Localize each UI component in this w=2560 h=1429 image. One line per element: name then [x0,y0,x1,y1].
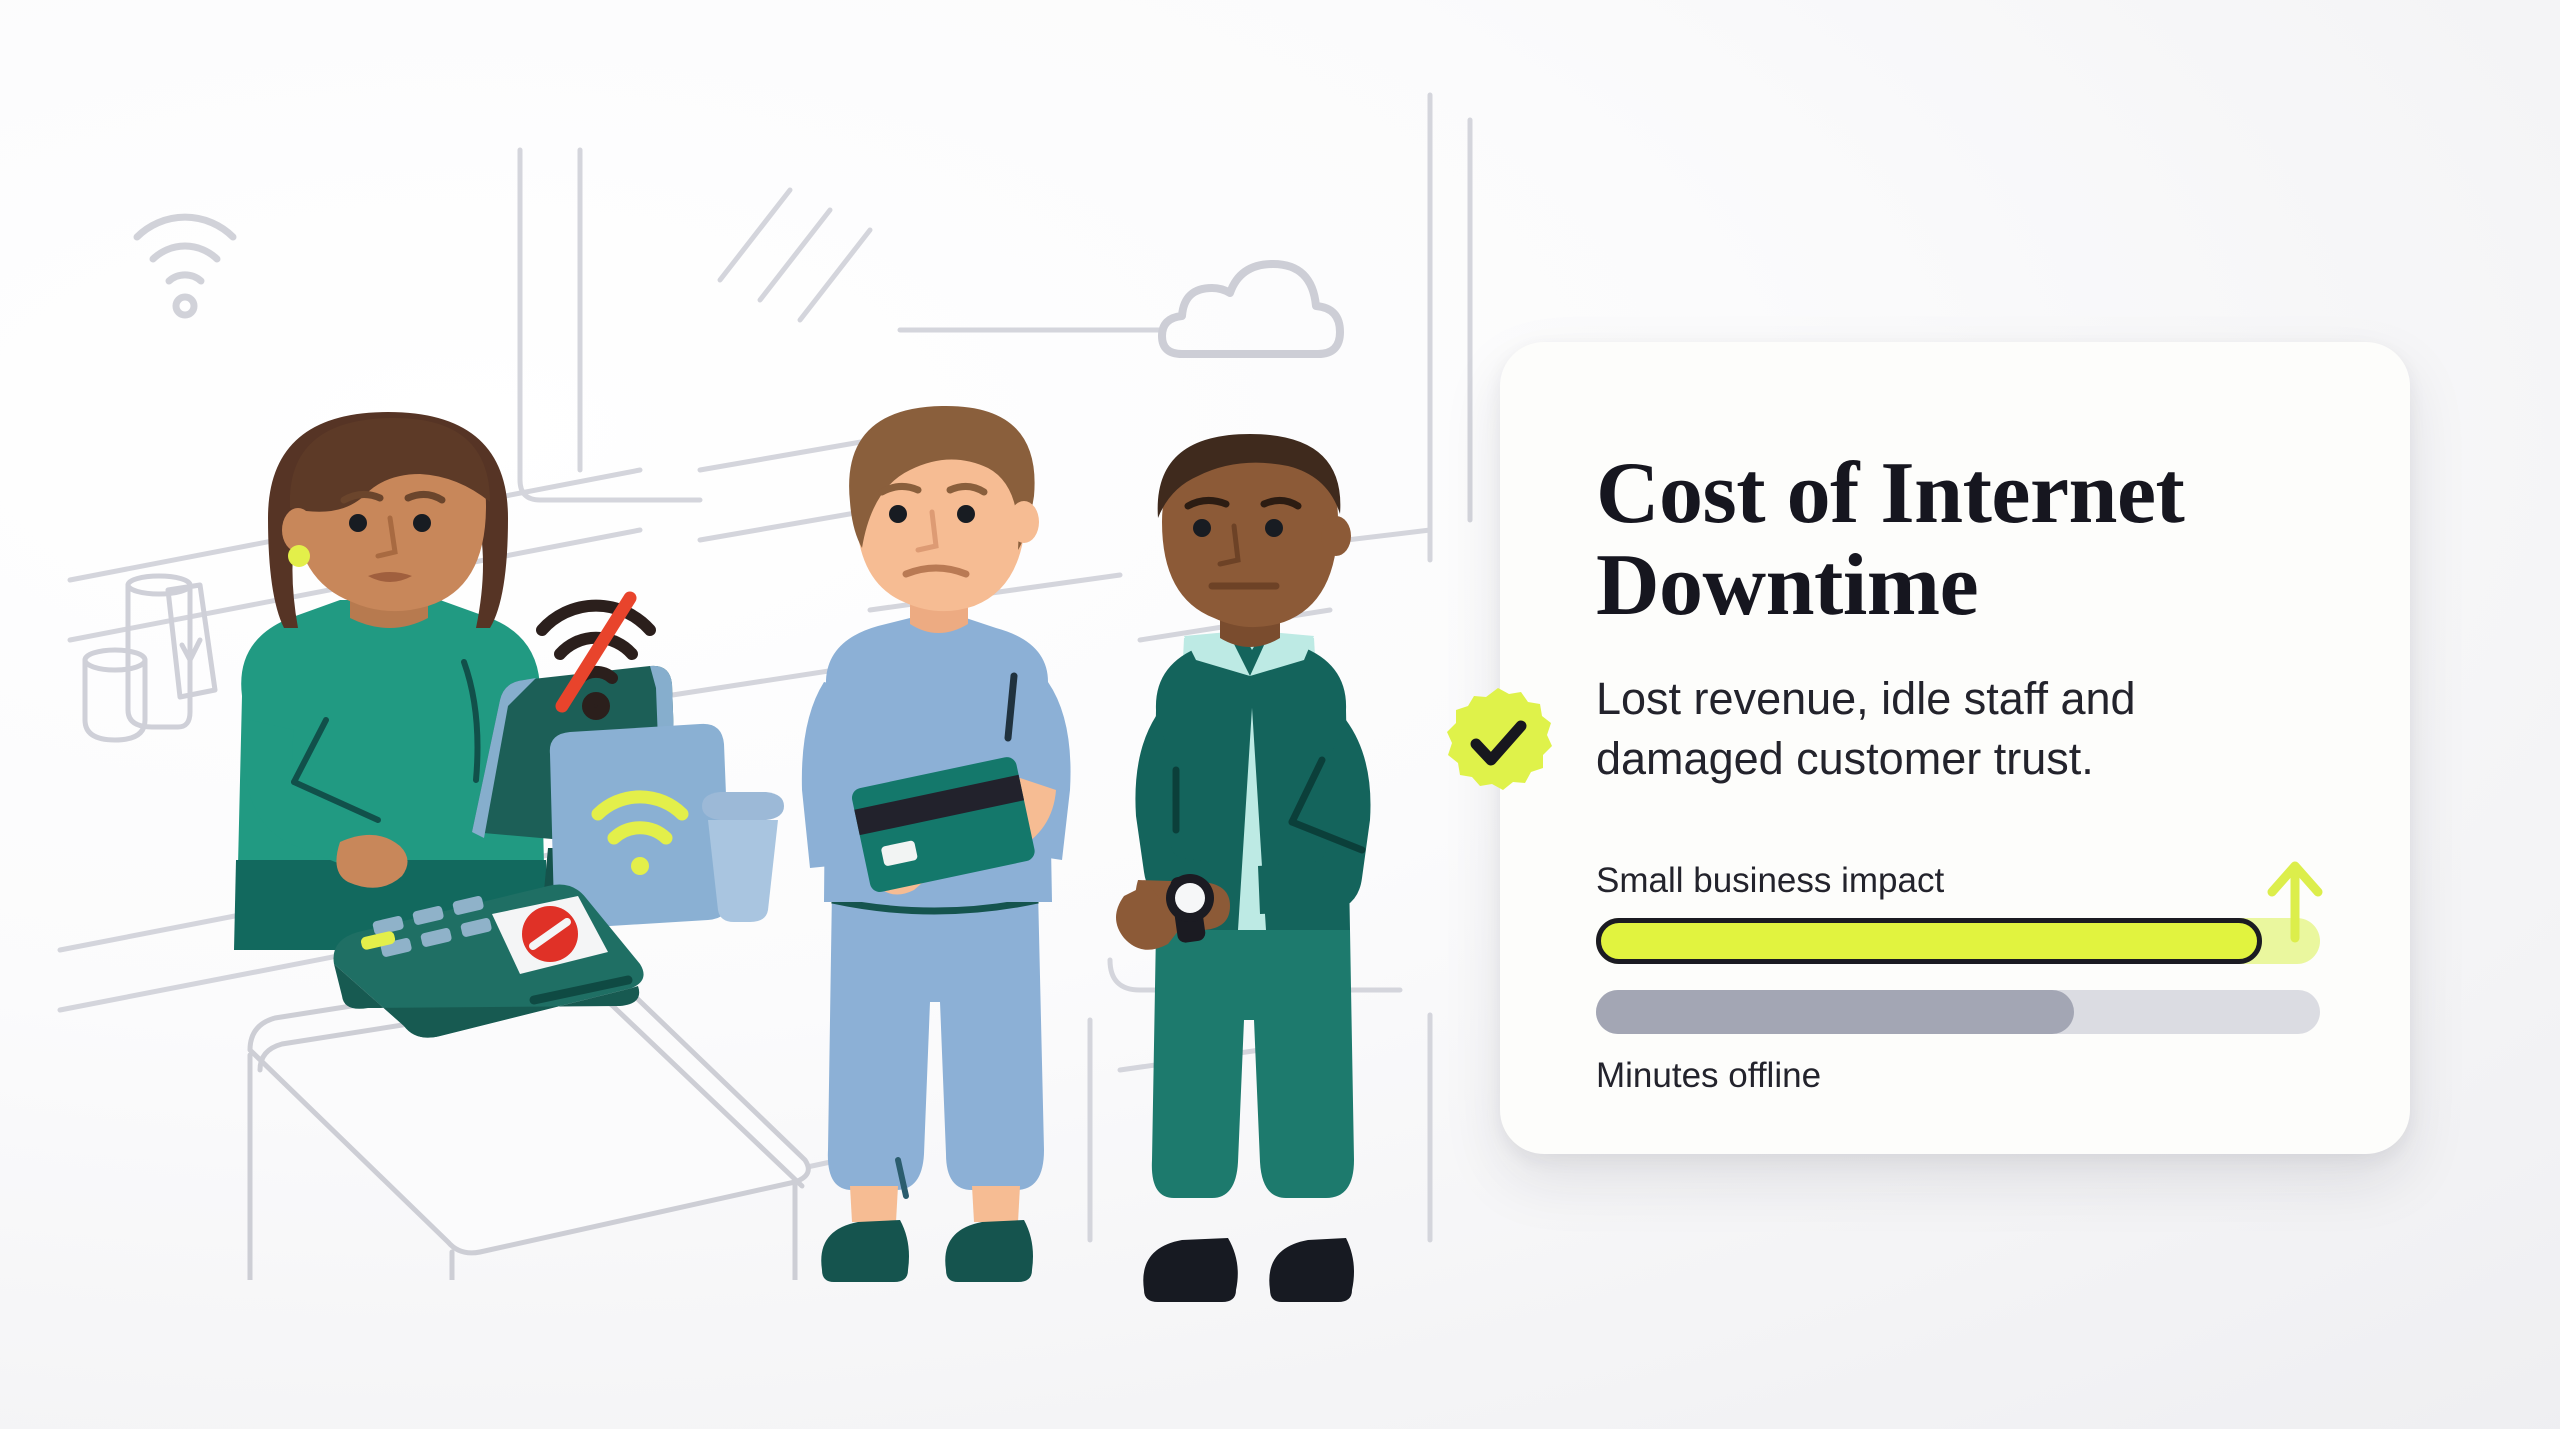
metrics-group: Small business impact Minutes offline [1596,863,2320,1093]
card-title: Cost of Internet Downtime [1596,448,2324,631]
cloud-icon [1162,264,1340,354]
trend-up-arrow-icon [2256,854,2334,946]
card-reader [320,860,660,1060]
illustration-scene: Cost of Internet Downtime Lost revenue, … [0,0,2560,1429]
customer-checking-watch [1078,410,1418,1310]
progress-bar-minutes-offline[interactable] [1596,990,2320,1034]
info-card: Cost of Internet Downtime Lost revenue, … [1500,342,2410,1154]
card-subtitle: Lost revenue, idle staff and damaged cus… [1596,669,2296,789]
progress-bar-small-business-impact-fill [1596,918,2262,964]
earring [288,545,310,567]
customer-with-card [770,390,1110,1310]
metric-label-small-business-impact: Small business impact [1596,863,2320,898]
metric-label-minutes-offline: Minutes offline [1596,1058,2320,1093]
wifi-icon [137,217,233,315]
payment-declined-icon [522,906,578,962]
progress-bar-minutes-offline-fill [1596,990,2074,1034]
wifi-off-icon [520,588,690,738]
progress-bar-small-business-impact[interactable] [1596,918,2320,964]
verified-badge[interactable] [1434,678,1562,806]
